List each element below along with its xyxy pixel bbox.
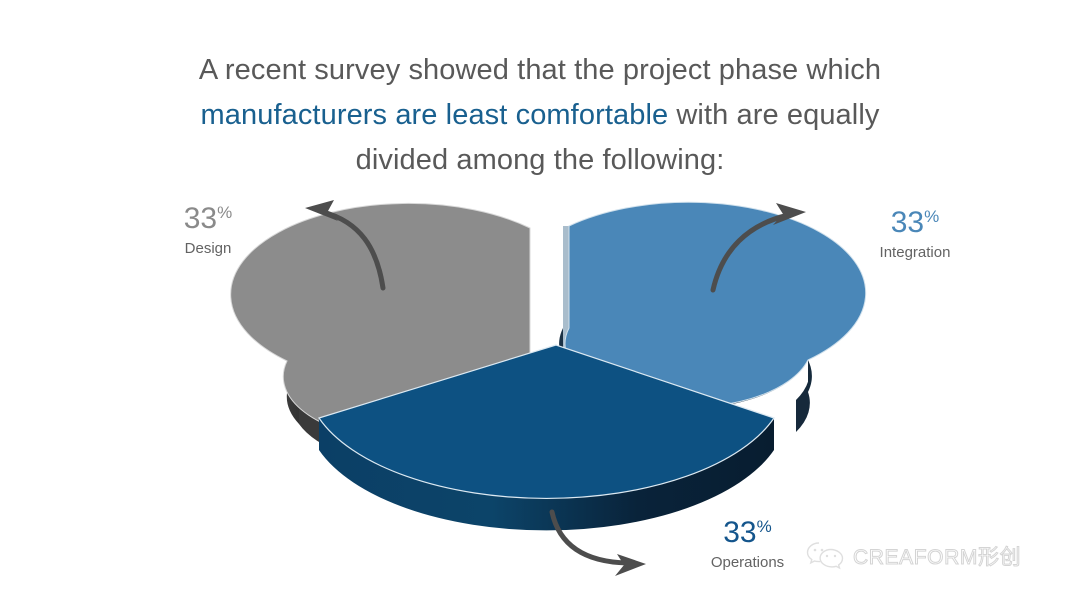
callout-design-percent: 33%	[143, 196, 273, 236]
callout-design-category: Design	[143, 239, 273, 259]
watermark: CREAFORM形创	[806, 540, 1021, 572]
callout-operations: 33% Operations	[680, 510, 815, 573]
wechat-icon	[806, 540, 844, 572]
wechat-eye-2	[821, 549, 824, 552]
callout-operations-category: Operations	[680, 553, 815, 573]
callout-operations-percent: 33%	[680, 510, 815, 550]
callout-design: 33% Design	[143, 196, 273, 259]
callout-integration-percent: 33%	[840, 200, 990, 240]
wechat-eye-4	[834, 555, 836, 557]
watermark-text: CREAFORM形创	[853, 541, 1021, 571]
pie-chart: 33% Design 33% Integration 33% Operation…	[0, 0, 1080, 608]
pie-chart-svg	[0, 0, 1080, 608]
wechat-eye-3	[826, 555, 828, 557]
callout-integration-category: Integration	[840, 243, 990, 263]
callout-integration: 33% Integration	[840, 200, 990, 263]
wechat-eye-1	[814, 549, 817, 552]
